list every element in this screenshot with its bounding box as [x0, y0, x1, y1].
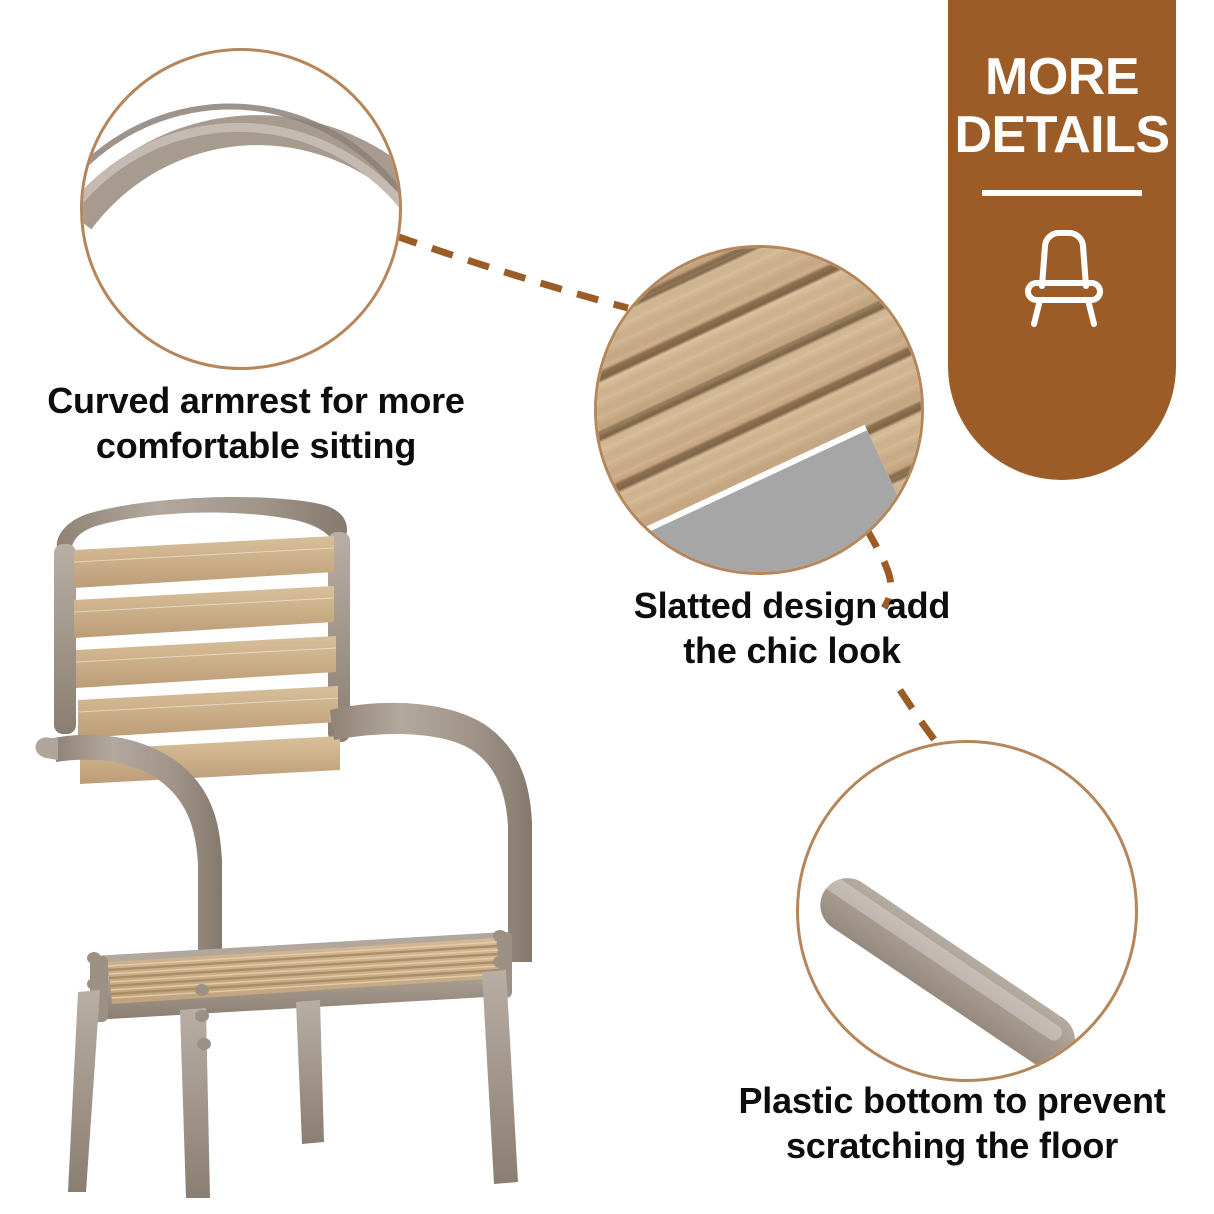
infographic-canvas: MORE DETAILS: [0, 0, 1214, 1214]
leg-front-right: [482, 970, 518, 1184]
right-armrest: [330, 703, 532, 962]
product-photo-chair: [34, 492, 564, 1198]
leg-rear-left: [68, 990, 100, 1192]
detail-circle-foot: [796, 740, 1138, 1082]
caption-armrest-line-2: comfortable sitting: [8, 423, 504, 468]
detail-circle-slats: [594, 245, 924, 575]
plastic-foot-highlight: [817, 869, 1065, 1043]
caption-slats-line-2: the chic look: [608, 628, 976, 673]
caption-foot-line-1: Plastic bottom to prevent: [712, 1078, 1192, 1123]
leg-rear-right: [296, 1000, 324, 1144]
caption-slats-line-1: Slatted design add: [608, 583, 976, 628]
caption-slatted-design: Slatted design add the chic look: [608, 583, 976, 674]
slats-closeup-image: [597, 248, 921, 572]
leg-front-left: [180, 1008, 210, 1198]
detail-circle-armrest: [80, 48, 402, 370]
caption-foot-line-2: scratching the floor: [712, 1123, 1192, 1168]
dashed-connector-armrest-to-slats: [396, 236, 628, 308]
plastic-foot-closeup-image: [799, 743, 1135, 1079]
caption-armrest-line-1: Curved armrest for more: [8, 378, 504, 423]
armrest-closeup-image: [83, 51, 399, 367]
caption-curved-armrest: Curved armrest for more comfortable sitt…: [8, 378, 504, 469]
caption-plastic-bottom: Plastic bottom to prevent scratching the…: [712, 1078, 1192, 1169]
